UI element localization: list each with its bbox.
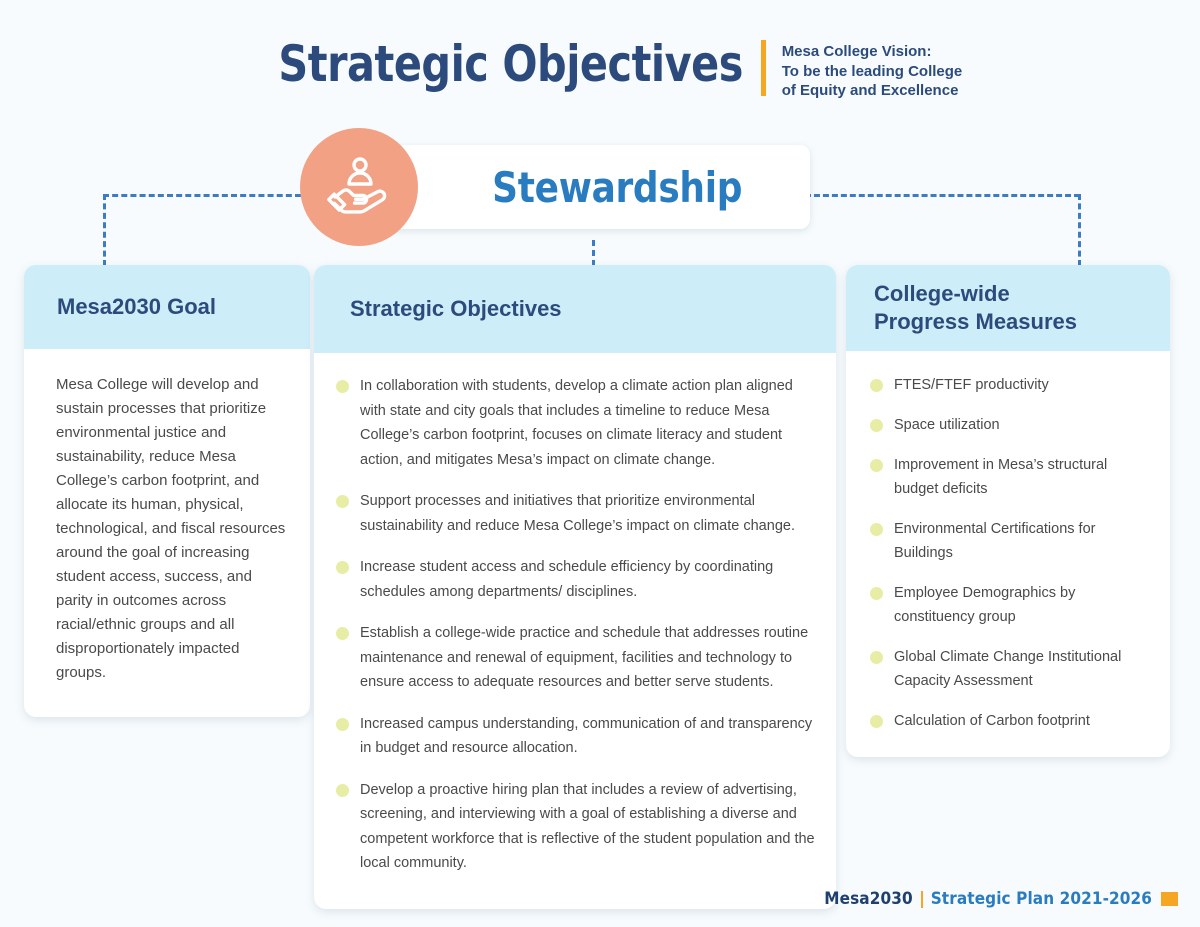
page-header: Strategic Objectives Mesa College Vision… (0, 34, 1200, 114)
footer-brand: Mesa2030 (824, 889, 912, 909)
measures-list: FTES/FTEF productivity Space utilization… (868, 373, 1154, 733)
card-measures-header-title: College-wide Progress Measures (874, 280, 1077, 336)
card-objectives-body: In collaboration with students, develop … (314, 353, 836, 876)
list-item: Space utilization (868, 413, 1154, 437)
footer-accent-square (1161, 892, 1178, 906)
pillar-title: Stewardship (439, 163, 742, 212)
page-title: Strategic Objectives (278, 34, 743, 94)
card-goal-body: Mesa College will develop and sustain pr… (24, 349, 310, 685)
list-item: Increased campus understanding, communic… (334, 712, 818, 761)
list-item: Environmental Certifications for Buildin… (868, 517, 1154, 565)
list-item: Improvement in Mesa’s structural budget … (868, 453, 1154, 501)
list-item: Calculation of Carbon footprint (868, 709, 1154, 733)
card-measures-header: College-wide Progress Measures (846, 265, 1170, 351)
pillar-plate: Stewardship (372, 145, 810, 229)
card-goal-header: Mesa2030 Goal (24, 265, 310, 349)
card-college-wide-progress-measures: College-wide Progress Measures FTES/FTEF… (846, 265, 1170, 757)
connector-left-vertical (103, 194, 106, 266)
list-item: Increase student access and schedule eff… (334, 555, 818, 604)
footer-divider (921, 891, 923, 908)
footer-branding: Mesa2030 Strategic Plan 2021-2026 (824, 889, 1178, 909)
goal-text: Mesa College will develop and sustain pr… (56, 373, 288, 685)
connector-right-vertical (1078, 194, 1081, 266)
list-item: Develop a proactive hiring plan that inc… (334, 778, 818, 876)
list-item: In collaboration with students, develop … (334, 374, 818, 472)
card-measures-body: FTES/FTEF productivity Space utilization… (846, 351, 1170, 733)
footer-plan-label: Strategic Plan 2021-2026 (931, 889, 1152, 909)
list-item: FTES/FTEF productivity (868, 373, 1154, 397)
objectives-list: In collaboration with students, develop … (334, 374, 818, 876)
list-item: Support processes and initiatives that p… (334, 489, 818, 538)
pillar-banner: Stewardship (300, 128, 810, 246)
connector-right-horizontal (805, 194, 1080, 197)
card-strategic-objectives: Strategic Objectives In collaboration wi… (314, 265, 836, 909)
list-item: Global Climate Change Institutional Capa… (868, 645, 1154, 693)
vision-statement: Mesa College Vision: To be the leading C… (782, 34, 963, 101)
card-objectives-header-title: Strategic Objectives (350, 295, 562, 323)
card-goal-header-title: Mesa2030 Goal (57, 293, 216, 321)
card-objectives-header: Strategic Objectives (314, 265, 836, 353)
list-item: Establish a college-wide practice and sc… (334, 621, 818, 695)
hand-holding-person-icon (300, 128, 418, 246)
card-mesa2030-goal: Mesa2030 Goal Mesa College will develop … (24, 265, 310, 717)
list-item: Employee Demographics by constituency gr… (868, 581, 1154, 629)
header-divider (761, 40, 766, 96)
